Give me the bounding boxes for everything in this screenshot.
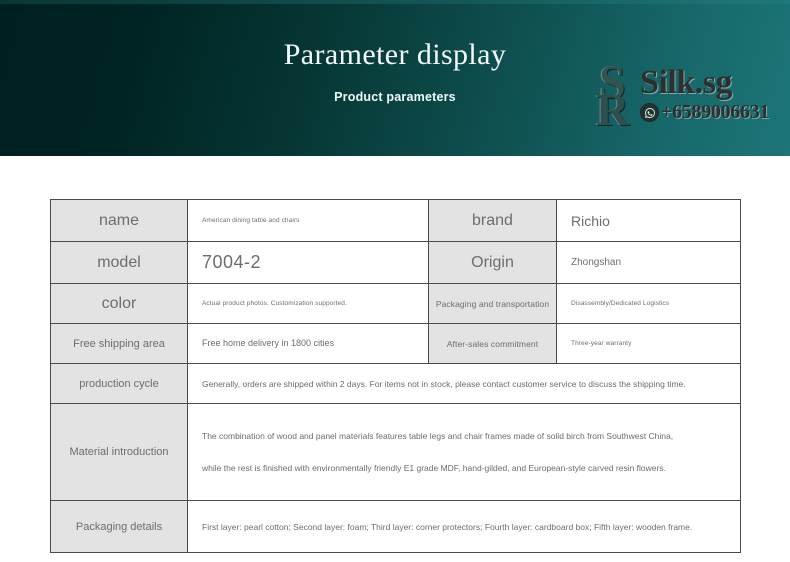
table-row: Free shipping area Free home delivery in… <box>51 324 741 364</box>
row-value-material-introduction: The combination of wood and panel materi… <box>188 404 741 501</box>
row-label-after-sales-commitment: After-sales commitment <box>429 324 557 364</box>
logo-monogram-r: R <box>596 87 629 133</box>
page-banner: Parameter display Product parameters S R… <box>0 0 790 156</box>
table-row: model 7004-2 Origin Zhongshan <box>51 242 741 284</box>
logo-contact: +6589006631 <box>640 101 769 124</box>
row-label-free-shipping-area: Free shipping area <box>51 324 188 364</box>
logo-monogram-icon: S R <box>596 63 642 131</box>
row-value-free-shipping-area: Free home delivery in 1800 cities <box>188 324 429 364</box>
row-value-packaging-transportation: Disassembly/Dedicated Logistics <box>557 284 741 324</box>
logo-phone-number: +6589006631 <box>661 101 769 124</box>
material-line-2: while the rest is finished with environm… <box>202 463 726 473</box>
row-value-color: Actual product photos. Customization sup… <box>188 284 429 324</box>
row-value-name: American dining table and chairs <box>188 200 429 242</box>
table-row: color Actual product photos. Customizati… <box>51 284 741 324</box>
logo-brand-name: Silk.sg <box>640 64 732 102</box>
banner-top-strip <box>0 0 790 4</box>
row-label-packaging-transportation: Packaging and transportation <box>429 284 557 324</box>
row-label-material-introduction: Material introduction <box>51 404 188 501</box>
row-label-origin: Origin <box>429 242 557 284</box>
row-label-brand: brand <box>429 200 557 242</box>
row-label-name: name <box>51 200 188 242</box>
whatsapp-icon <box>640 103 659 122</box>
parameter-display-page: Parameter display Product parameters S R… <box>0 0 790 562</box>
row-value-origin: Zhongshan <box>557 242 741 284</box>
material-line-1: The combination of wood and panel materi… <box>202 431 726 441</box>
row-value-model: 7004-2 <box>188 242 429 284</box>
row-value-brand: Richio <box>557 200 741 242</box>
parameter-table: name American dining table and chairs br… <box>50 199 741 553</box>
table-row: Packaging details First layer: pearl cot… <box>51 501 741 553</box>
row-label-model: model <box>51 242 188 284</box>
row-value-production-cycle: Generally, orders are shipped within 2 d… <box>188 364 741 404</box>
table-row: Material introduction The combination of… <box>51 404 741 501</box>
row-label-production-cycle: production cycle <box>51 364 188 404</box>
row-label-color: color <box>51 284 188 324</box>
table-row: production cycle Generally, orders are s… <box>51 364 741 404</box>
row-value-packaging-details: First layer: pearl cotton; Second layer:… <box>188 501 741 553</box>
brand-logo[interactable]: S R Silk.sg +6589006631 <box>596 63 748 133</box>
row-value-after-sales-commitment: Three-year warranty <box>557 324 741 364</box>
table-row: name American dining table and chairs br… <box>51 200 741 242</box>
row-label-packaging-details: Packaging details <box>51 501 188 553</box>
